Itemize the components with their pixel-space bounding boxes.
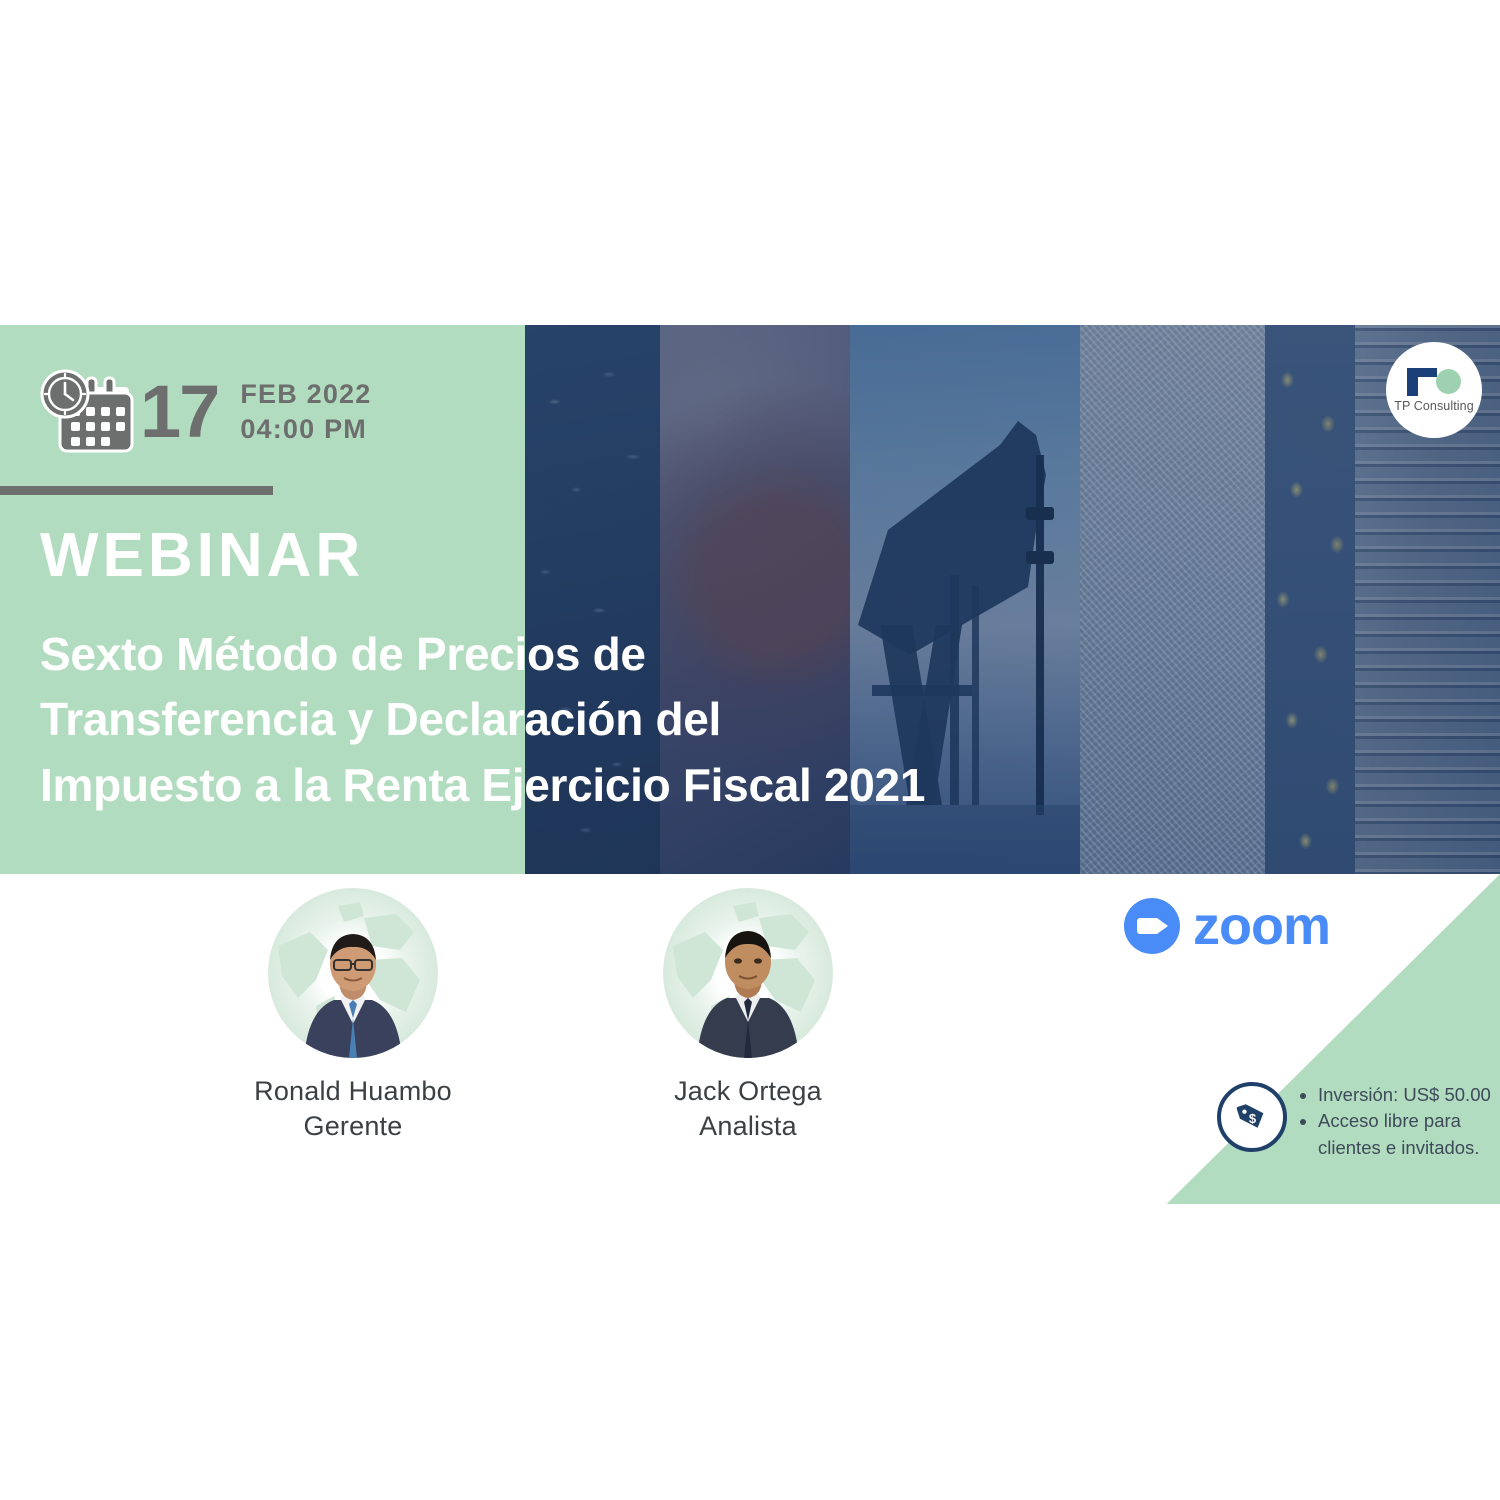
svg-text:$: $ (1249, 1111, 1257, 1126)
tp-logo-text: TP Consulting (1394, 399, 1474, 413)
speaker-name: Jack Ortega (608, 1076, 888, 1107)
event-month-year: FEB 2022 (240, 377, 371, 412)
speaker-card: Jack Ortega Analista (608, 888, 888, 1142)
corn-kernels-panel (1265, 325, 1355, 874)
pricing-item: Inversión: US$ 50.00 (1318, 1082, 1491, 1108)
event-date-block: 17 FEB 2022 04:00 PM (38, 369, 371, 455)
title-line-1: Sexto Método de Precios de (40, 622, 1160, 687)
header-divider (0, 486, 273, 495)
pricing-item-line-1: Acceso libre para (1318, 1108, 1491, 1134)
tp-logo-mark (1407, 368, 1461, 396)
event-time: 04:00 PM (240, 412, 371, 447)
price-tag-dollar-icon: $ (1217, 1082, 1287, 1152)
pricing-text: Inversión: US$ 50.00 Acceso libre para c… (1301, 1082, 1491, 1161)
pricing-item-line-2: clientes e invitados. (1318, 1135, 1491, 1161)
avatar (268, 888, 438, 1058)
speaker-role: Analista (608, 1111, 888, 1142)
zoom-platform-logo: zoom (1124, 898, 1330, 954)
page-title: Sexto Método de Precios de Transferencia… (40, 622, 1160, 818)
lower-section: Ronald Huambo Gerente (0, 874, 1500, 1204)
title-line-2: Transferencia y Declaración del (40, 687, 1160, 752)
green-banner: TP Consulting (0, 325, 1500, 874)
calendar-clock-icon (38, 369, 134, 455)
speaker-photo-ronald-huambo (294, 918, 412, 1058)
eyebrow-label: WEBINAR (40, 525, 364, 587)
speaker-name: Ronald Huambo (213, 1076, 493, 1107)
pricing-block: $ Inversión: US$ 50.00 Acceso libre para… (1217, 1082, 1491, 1161)
avatar (663, 888, 833, 1058)
speaker-role: Gerente (213, 1111, 493, 1142)
tp-consulting-logo: TP Consulting (1386, 342, 1482, 438)
speaker-card: Ronald Huambo Gerente (213, 888, 493, 1142)
tp-green-circle-icon (1436, 369, 1461, 394)
title-line-3: Impuesto a la Renta Ejercicio Fiscal 202… (40, 753, 1160, 818)
tp-angular-t-icon (1407, 368, 1437, 396)
zoom-camera-icon (1124, 898, 1180, 954)
poster-canvas: TP Consulting (0, 0, 1500, 1500)
event-day: 17 (140, 375, 218, 449)
zoom-wordmark: zoom (1193, 899, 1330, 953)
event-date-text: FEB 2022 04:00 PM (240, 377, 371, 446)
pricing-item: Acceso libre para clientes e invitados. (1318, 1108, 1491, 1161)
speaker-photo-jack-ortega (689, 918, 807, 1058)
